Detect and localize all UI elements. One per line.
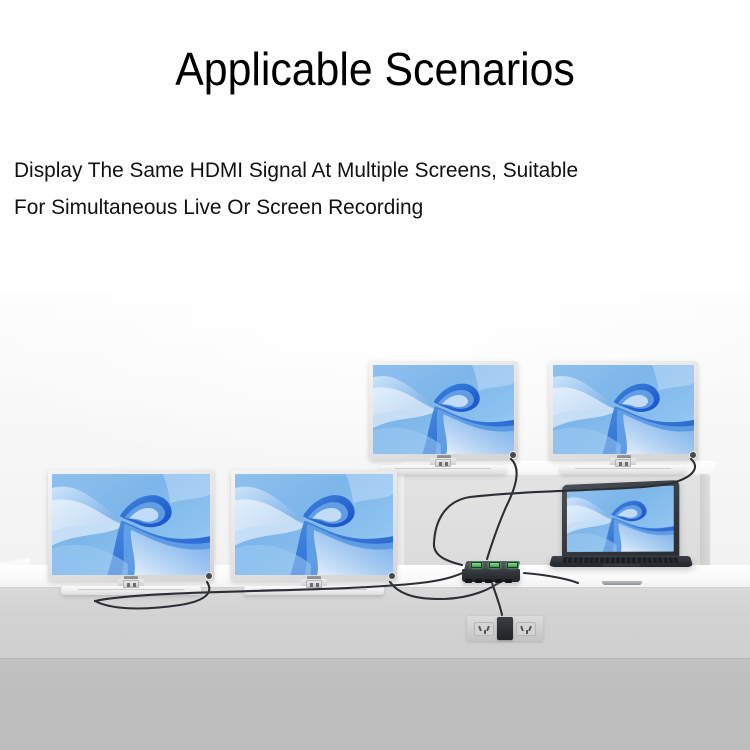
- monitor-stand-logo: [123, 580, 139, 588]
- monitor-hdmi-port: [389, 573, 395, 579]
- monitor-hdmi-port: [510, 452, 516, 458]
- subtitle-line-2: For Simultaneous Live Or Screen Recordin…: [14, 189, 722, 226]
- windows-11-bloom-wallpaper: [235, 474, 393, 575]
- product-feature-page: Applicable Scenarios Display The Same HD…: [0, 0, 750, 750]
- hub-port-4: [495, 579, 502, 583]
- hub-led-3: [507, 562, 518, 568]
- monitor-screen: [373, 365, 514, 454]
- page-subtitle: Display The Same HDMI Signal At Multiple…: [14, 152, 722, 226]
- hub-port-5: [505, 579, 512, 583]
- laptop-keyboard: [563, 557, 680, 563]
- hub-led-1: [471, 562, 482, 568]
- monitor-hdmi-port: [206, 573, 212, 579]
- page-title: Applicable Scenarios: [26, 40, 724, 98]
- monitor-lower-left: [48, 470, 214, 581]
- hub-port-2: [475, 579, 482, 583]
- text-block: Applicable Scenarios Display The Same HD…: [0, 0, 750, 293]
- laptop-trackpad: [602, 564, 639, 566]
- floor: [0, 659, 750, 750]
- monitor-lower-center: [231, 470, 397, 581]
- hub-port-3: [485, 579, 492, 583]
- outlet-right: [516, 622, 536, 636]
- monitor-screen: [235, 474, 393, 575]
- monitor-stand-logo: [306, 580, 322, 588]
- monitor-bezel: [369, 361, 518, 460]
- monitor-bezel: [231, 470, 397, 581]
- laptop-front-lip: [602, 581, 642, 585]
- monitor-stand-logo: [435, 459, 451, 467]
- monitor-lower-left-base: [61, 586, 201, 595]
- laptop-lid: [562, 480, 679, 559]
- windows-11-bloom-wallpaper: [553, 365, 694, 454]
- monitor-hdmi-port: [690, 452, 696, 458]
- monitor-upper-left: [369, 361, 518, 460]
- monitor-bezel: [48, 470, 214, 581]
- monitor-upper-right: [549, 361, 698, 460]
- monitor-stand-logo: [615, 459, 631, 467]
- outlet-left: [474, 622, 494, 636]
- subtitle-line-1: Display The Same HDMI Signal At Multiple…: [14, 152, 722, 189]
- hub-ports: [465, 579, 512, 583]
- hub-led-2: [489, 562, 500, 568]
- hub-status-leds: [471, 562, 518, 568]
- windows-11-bloom-wallpaper: [373, 365, 514, 454]
- monitor-bezel: [549, 361, 698, 460]
- hub-port-1: [465, 579, 472, 583]
- monitor-lower-center-base: [244, 586, 384, 595]
- scenario-photo: [0, 293, 750, 750]
- laptop: [552, 485, 692, 589]
- monitor-upper-right-base: [560, 465, 686, 474]
- laptop-screen: [567, 486, 674, 552]
- laptop-keyboard-deck: [549, 556, 693, 567]
- windows-11-bloom-wallpaper: [567, 486, 674, 552]
- monitor-screen: [52, 474, 210, 575]
- desk-front-panel: [0, 588, 750, 660]
- power-plug: [497, 617, 513, 640]
- hdmi-splitter-hub[interactable]: [462, 561, 522, 585]
- windows-11-bloom-wallpaper: [52, 474, 210, 575]
- monitor-screen: [553, 365, 694, 454]
- monitor-upper-left-base: [380, 465, 506, 474]
- wall-power-outlet[interactable]: [467, 616, 543, 641]
